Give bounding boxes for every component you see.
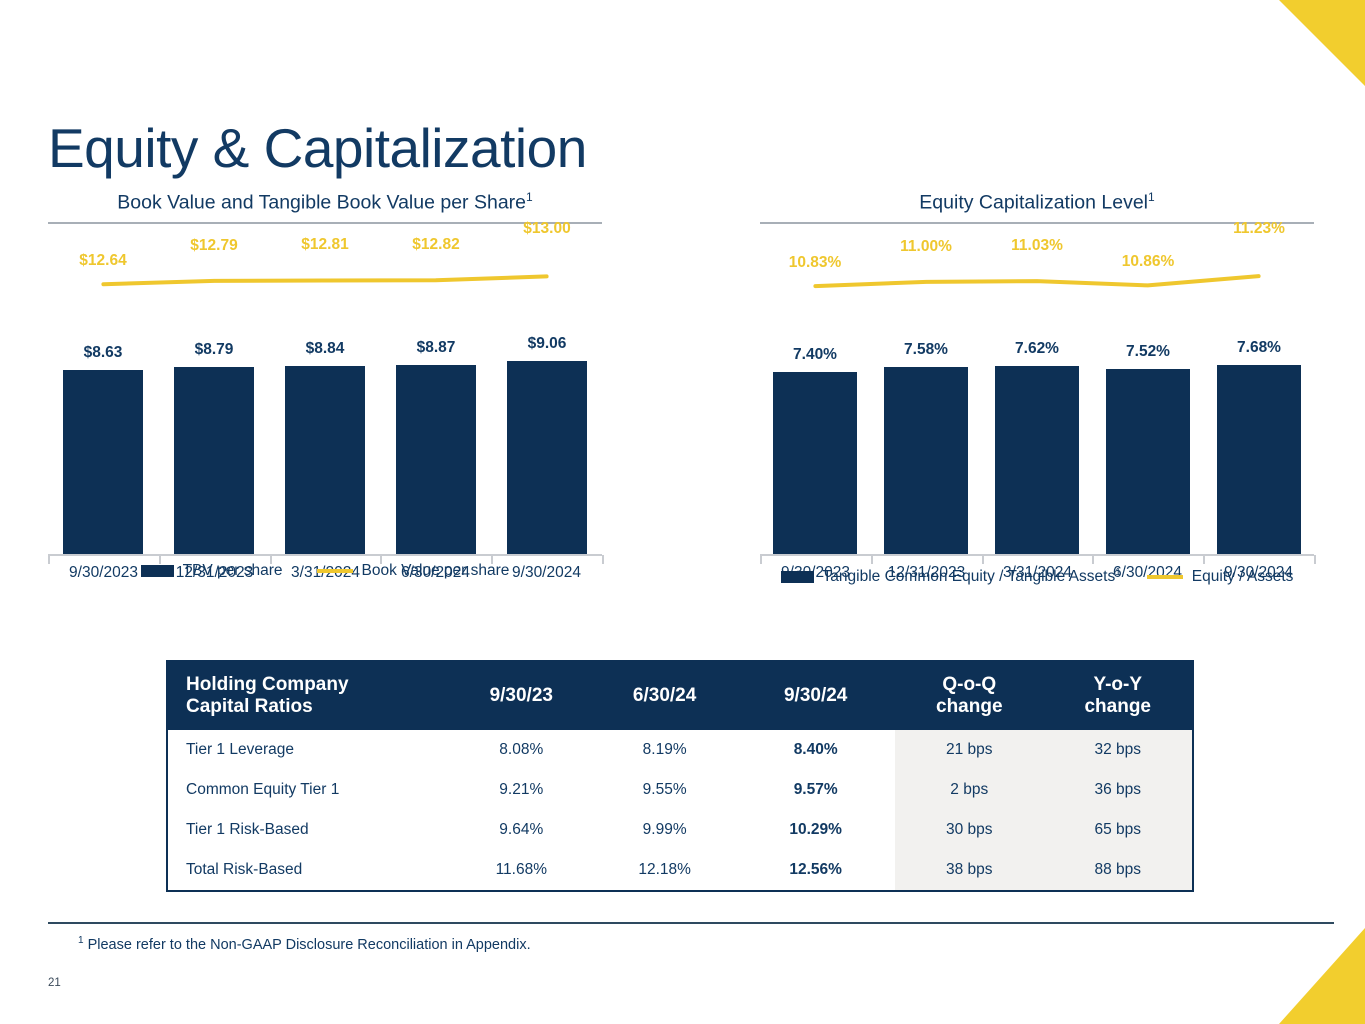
table-cell-yoy: 32 bps bbox=[1044, 730, 1193, 770]
line-value-label: 11.00% bbox=[871, 238, 981, 256]
legend-swatch-line-icon bbox=[317, 569, 353, 573]
legend-label-tce-text: Tangible Common Equity / Tangible Assets bbox=[823, 568, 1116, 585]
table-header-9-30-24: 9/30/24 bbox=[736, 662, 895, 730]
legend-item-tbv-per-share: TBV per share bbox=[141, 562, 283, 580]
axis-tick bbox=[982, 555, 984, 564]
line-value-label: 11.03% bbox=[982, 237, 1092, 255]
table-cell-yoy: 65 bps bbox=[1044, 810, 1193, 850]
equity-capitalization-chart-title-text: Equity Capitalization Level bbox=[919, 192, 1148, 214]
book-value-chart-title-superscript: 1 bbox=[526, 190, 533, 204]
axis-tick bbox=[871, 555, 873, 564]
line-value-label: $12.64 bbox=[48, 252, 158, 270]
table-cell-qoq: 21 bps bbox=[895, 730, 1043, 770]
legend-item-equity-assets: Equity / Assets bbox=[1147, 568, 1294, 586]
footnote-divider bbox=[48, 922, 1334, 924]
line-value-label: 11.23% bbox=[1204, 220, 1314, 238]
table-cell-qoq: 2 bps bbox=[895, 770, 1043, 810]
axis-tick bbox=[760, 555, 762, 564]
table-cell-label: Total Risk-Based bbox=[168, 850, 450, 890]
table-cell-qoq: 30 bps bbox=[895, 810, 1043, 850]
table-cell-9-30-24: 12.56% bbox=[736, 850, 895, 890]
line-value-label: $12.81 bbox=[270, 236, 380, 254]
table-header-yoy-change: Y-o-Y change bbox=[1044, 662, 1193, 730]
book-value-plot-area: $8.63$8.79$8.84$8.87$9.06$12.64$12.79$12… bbox=[48, 242, 602, 556]
table-cell-label: Tier 1 Leverage bbox=[168, 730, 450, 770]
table-header-line2: Capital Ratios bbox=[186, 696, 313, 717]
equity-capitalization-chart-title-superscript: 1 bbox=[1148, 190, 1155, 204]
page-number: 21 bbox=[48, 977, 61, 989]
table-header-yoy-line2: change bbox=[1084, 696, 1151, 717]
table-row: Common Equity Tier 19.21%9.55%9.57%2 bps… bbox=[168, 770, 1192, 810]
page-title: Equity & Capitalization bbox=[48, 118, 587, 179]
corner-accent-bottom-right-icon bbox=[1279, 928, 1365, 1024]
legend-label-tce-tangible-assets: Tangible Common Equity / Tangible Assets… bbox=[823, 567, 1121, 586]
book-value-chart: $8.63$8.79$8.84$8.87$9.06$12.64$12.79$12… bbox=[48, 242, 602, 582]
table-header-row: Holding Company Capital Ratios 9/30/23 6… bbox=[168, 662, 1192, 730]
table-cell-6-30-24: 8.19% bbox=[593, 730, 736, 770]
book-value-chart-title: Book Value and Tangible Book Value per S… bbox=[48, 190, 602, 222]
table-cell-9-30-24: 9.57% bbox=[736, 770, 895, 810]
table-header-qoq-line2: change bbox=[936, 696, 1003, 717]
capital-ratios-table: Holding Company Capital Ratios 9/30/23 6… bbox=[168, 662, 1192, 890]
table-row: Tier 1 Risk-Based9.64%9.99%10.29%30 bps6… bbox=[168, 810, 1192, 850]
legend-label-tce-superscript: 1 bbox=[1115, 567, 1121, 578]
footnote: 1 Please refer to the Non-GAAP Disclosur… bbox=[78, 935, 531, 953]
table-row: Total Risk-Based11.68%12.18%12.56%38 bps… bbox=[168, 850, 1192, 890]
book-value-chart-title-text: Book Value and Tangible Book Value per S… bbox=[117, 192, 526, 214]
table-header-yoy-line1: Y-o-Y bbox=[1093, 674, 1142, 695]
chart-axis-line bbox=[48, 554, 602, 556]
legend-label-book-value-per-share: Book Value per share bbox=[362, 562, 510, 580]
legend-item-tce-tangible-assets: Tangible Common Equity / Tangible Assets… bbox=[781, 567, 1121, 586]
trend-line bbox=[760, 242, 1314, 556]
table-cell-9-30-23: 9.64% bbox=[450, 810, 593, 850]
legend-label-equity-assets: Equity / Assets bbox=[1192, 568, 1294, 586]
table-cell-9-30-23: 8.08% bbox=[450, 730, 593, 770]
book-value-chart-panel: Book Value and Tangible Book Value per S… bbox=[48, 190, 602, 582]
table-header-6-30-24: 6/30/24 bbox=[593, 662, 736, 730]
slide: Equity & Capitalization Book Value and T… bbox=[0, 0, 1365, 1024]
axis-tick bbox=[1314, 555, 1316, 564]
axis-tick bbox=[1092, 555, 1094, 564]
equity-capitalization-chart-title: Equity Capitalization Level1 bbox=[760, 190, 1314, 222]
corner-accent-top-right-icon bbox=[1279, 0, 1365, 86]
capital-ratios-table-wrapper: Holding Company Capital Ratios 9/30/23 6… bbox=[166, 660, 1194, 892]
legend-swatch-bar-icon bbox=[141, 565, 174, 577]
table-cell-label: Tier 1 Risk-Based bbox=[168, 810, 450, 850]
table-row: Tier 1 Leverage8.08%8.19%8.40%21 bps32 b… bbox=[168, 730, 1192, 770]
table-header-qoq-change: Q-o-Q change bbox=[895, 662, 1043, 730]
chart-axis-line bbox=[760, 554, 1314, 556]
legend-swatch-line-icon bbox=[1147, 575, 1183, 579]
footnote-text: Please refer to the Non-GAAP Disclosure … bbox=[88, 937, 531, 953]
line-value-label: 10.86% bbox=[1093, 253, 1203, 271]
table-header-capital-ratios: Holding Company Capital Ratios bbox=[168, 662, 450, 730]
axis-tick bbox=[602, 555, 604, 564]
legend-item-book-value-per-share: Book Value per share bbox=[317, 562, 510, 580]
equity-capitalization-chart: 7.40%7.58%7.62%7.52%7.68%10.83%11.00%11.… bbox=[760, 242, 1314, 582]
legend-swatch-bar-icon bbox=[781, 571, 814, 583]
footnote-marker: 1 bbox=[78, 935, 84, 946]
table-cell-qoq: 38 bps bbox=[895, 850, 1043, 890]
table-cell-9-30-23: 9.21% bbox=[450, 770, 593, 810]
equity-capitalization-legend: Tangible Common Equity / Tangible Assets… bbox=[760, 567, 1314, 586]
line-value-label: $12.82 bbox=[381, 236, 491, 254]
line-value-label: 10.83% bbox=[760, 254, 870, 272]
table-cell-9-30-24: 10.29% bbox=[736, 810, 895, 850]
table-cell-yoy: 36 bps bbox=[1044, 770, 1193, 810]
equity-capitalization-chart-panel: Equity Capitalization Level1 7.40%7.58%7… bbox=[760, 190, 1314, 582]
line-value-label: $13.00 bbox=[492, 220, 602, 238]
table-cell-6-30-24: 9.99% bbox=[593, 810, 736, 850]
trend-line bbox=[48, 242, 602, 556]
book-value-legend: TBV per share Book Value per share bbox=[48, 562, 602, 580]
table-cell-9-30-24: 8.40% bbox=[736, 730, 895, 770]
table-header-9-30-23: 9/30/23 bbox=[450, 662, 593, 730]
table-header-line1: Holding Company bbox=[186, 674, 349, 695]
legend-label-tbv-per-share: TBV per share bbox=[183, 562, 283, 580]
table-cell-9-30-23: 11.68% bbox=[450, 850, 593, 890]
table-cell-6-30-24: 12.18% bbox=[593, 850, 736, 890]
axis-tick bbox=[1203, 555, 1205, 564]
table-header-qoq-line1: Q-o-Q bbox=[942, 674, 996, 695]
table-cell-yoy: 88 bps bbox=[1044, 850, 1193, 890]
table-cell-label: Common Equity Tier 1 bbox=[168, 770, 450, 810]
table-cell-6-30-24: 9.55% bbox=[593, 770, 736, 810]
line-value-label: $12.79 bbox=[159, 237, 269, 255]
equity-capitalization-plot-area: 7.40%7.58%7.62%7.52%7.68%10.83%11.00%11.… bbox=[760, 242, 1314, 556]
